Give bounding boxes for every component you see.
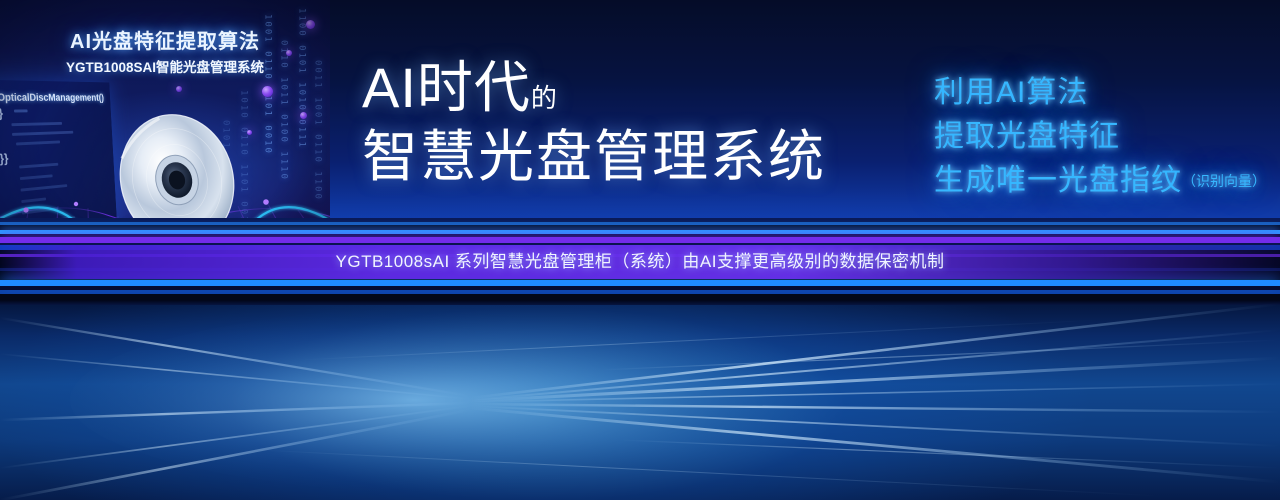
bottom-message-section: 条码管理方式 存在 安全风险 实现对 非法复制光盘 的 精准识别，确保数据安全 <box>0 300 1280 500</box>
headline-line-1: AI时代的 <box>362 60 882 116</box>
feature-item-1-label: 利用AI算法 <box>934 76 1088 109</box>
subtitle-text: YGTB1008sAI 系列智慧光盘管理柜（系统）由AI支撑更高级别的数据保密机… <box>0 248 1280 276</box>
promo-banner: 1001 0110 1101 0010 0110 1011 0100 1110 … <box>0 0 1280 500</box>
main-headline: AI时代的 智慧光盘管理系统 <box>362 60 882 187</box>
left-panel-subtitle: YGTB1008SAI智能光盘管理系统 <box>0 56 330 76</box>
feature-item-3-note: （识别向量） <box>1182 173 1266 189</box>
headline-line-1-suffix: 的 <box>531 83 557 113</box>
headline-line-2: 智慧光盘管理系统 <box>362 128 882 187</box>
feature-item-2: 提取光盘特征 <box>934 122 1266 152</box>
feature-list: 利用AI算法 提取光盘特征 生成唯一光盘指纹（识别向量） <box>934 78 1266 210</box>
feature-item-3: 生成唯一光盘指纹（识别向量） <box>934 166 1266 196</box>
headline-line-1-main: AI时代 <box>362 56 531 119</box>
feature-item-3-label: 生成唯一光盘指纹 <box>934 164 1182 197</box>
left-panel-title: AI光盘特征提取算法 <box>0 25 330 54</box>
feature-item-2-label: 提取光盘特征 <box>934 120 1120 153</box>
top-hero-section: 1001 0110 1101 0010 0110 1011 0100 1110 … <box>0 0 1280 300</box>
feature-item-1: 利用AI算法 <box>934 78 1266 108</box>
light-streaks <box>0 300 1280 500</box>
